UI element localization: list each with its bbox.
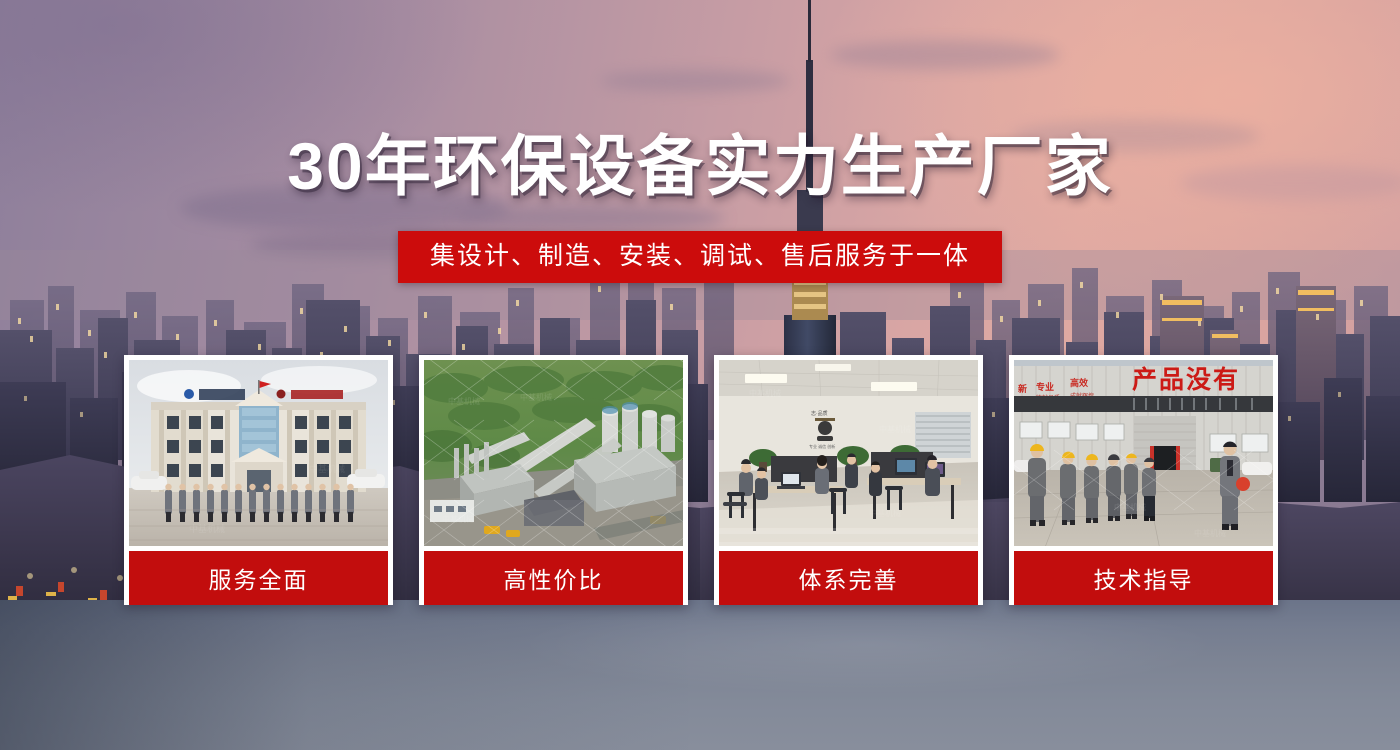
feature-card[interactable]: 中基机械 中基机械 中基机械 高性价比 <box>419 355 688 605</box>
subtitle-container: 集设计、制造、安装、调试、售后服务于一体 <box>0 231 1400 283</box>
feature-card[interactable]: 中基机械 中基机械 服务全面 <box>124 355 393 605</box>
water-reflection <box>0 600 1400 750</box>
svg-text:专业: 专业 <box>1036 381 1054 392</box>
svg-text:新: 新 <box>1018 383 1027 394</box>
card-label: 体系完善 <box>719 551 978 605</box>
card-photo-workers: 产品没有 新 专业 高效 创造 铸就品质 成就辉煌 <box>1014 360 1273 546</box>
svg-text:专业 诚信 创新: 专业 诚信 创新 <box>809 443 835 449</box>
svg-text:志·品质: 志·品质 <box>811 410 828 417</box>
card-photo-office: 志·品质 专业 诚信 创新 <box>719 360 978 546</box>
subtitle-badge: 集设计、制造、安装、调试、售后服务于一体 <box>398 231 1002 283</box>
svg-text:产品没有: 产品没有 <box>1132 366 1240 394</box>
card-label: 服务全面 <box>129 551 388 605</box>
feature-card[interactable]: 产品没有 新 专业 高效 创造 铸就品质 成就辉煌 <box>1009 355 1278 605</box>
card-label: 技术指导 <box>1014 551 1273 605</box>
svg-text:高效: 高效 <box>1070 377 1089 388</box>
card-photo-plant: 中基机械 中基机械 中基机械 <box>424 360 683 546</box>
page-title: 30年环保设备实力生产厂家 <box>0 133 1400 199</box>
card-photo-headquarters: 中基机械 中基机械 <box>129 360 388 546</box>
feature-card[interactable]: 志·品质 专业 诚信 创新 <box>714 355 983 605</box>
feature-card-list: 中基机械 中基机械 服务全面 <box>124 355 1278 605</box>
card-label: 高性价比 <box>424 551 683 605</box>
promo-banner: 30年环保设备实力生产厂家 集设计、制造、安装、调试、售后服务于一体 <box>0 0 1400 750</box>
